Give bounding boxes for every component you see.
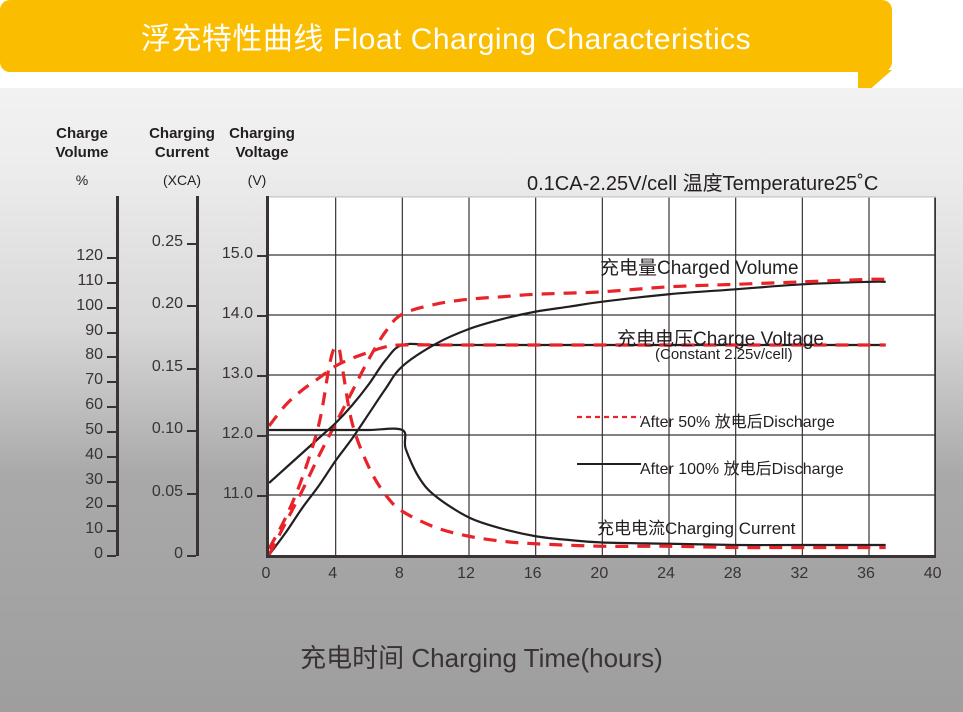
charging-voltage-tick-label: 11.0 xyxy=(195,485,253,503)
charge-volume-tick-label: 30 xyxy=(37,471,103,489)
charge-volume-tick xyxy=(107,282,116,284)
charge-volume-tick-label: 110 xyxy=(37,272,103,290)
charging-current-tick-label: 0.10 xyxy=(117,420,183,438)
axis-header-charging-voltage-line1: Charging xyxy=(216,124,308,143)
legend-label-0: After 50% 放电后Discharge xyxy=(640,408,835,432)
charge-volume-tick xyxy=(107,332,116,334)
charge-volume-tick-label: 120 xyxy=(37,247,103,265)
charge-volume-tick-label: 100 xyxy=(37,297,103,315)
x-tick-label: 8 xyxy=(379,565,419,583)
charging-voltage-tick-label: 15.0 xyxy=(195,245,253,263)
charging-voltage-tick-label: 14.0 xyxy=(195,305,253,323)
charging-current-tick-label: 0.25 xyxy=(117,233,183,251)
charge-volume-tick xyxy=(107,381,116,383)
charge-volume-tick-label: 80 xyxy=(37,346,103,364)
axis-header-charging-current-line2: Current xyxy=(136,143,228,162)
x-tick-label: 16 xyxy=(513,565,553,583)
annotation-charging-current: 充电电流Charging Current xyxy=(597,514,795,539)
axis-unit-percent: % xyxy=(56,172,108,188)
charge-volume-tick xyxy=(107,257,116,259)
charge-volume-tick xyxy=(107,356,116,358)
axis-header-charging-current: Charging Current xyxy=(136,124,228,162)
x-tick-label: 12 xyxy=(446,565,486,583)
charge-volume-tick-label: 50 xyxy=(37,421,103,439)
charge-volume-tick-label: 70 xyxy=(37,371,103,389)
charging-voltage-tick-label: 13.0 xyxy=(195,365,253,383)
charging-current-tick-label: 0.05 xyxy=(117,483,183,501)
x-tick-label: 28 xyxy=(713,565,753,583)
x-tick-label: 40 xyxy=(913,565,953,583)
charge-volume-tick xyxy=(107,307,116,309)
charging-voltage-tick-label: 12.0 xyxy=(195,425,253,443)
x-tick-label: 24 xyxy=(646,565,686,583)
header-banner: 浮充特性曲线 Float Charging Characteristics xyxy=(0,0,963,100)
charge-volume-tick xyxy=(107,406,116,408)
charge-volume-tick-label: 90 xyxy=(37,322,103,340)
charge-volume-tick-label: 10 xyxy=(37,520,103,538)
charging-current-tick xyxy=(187,555,196,557)
axis-header-charging-voltage: Charging Voltage xyxy=(216,124,308,162)
charging-voltage-tick xyxy=(257,255,266,257)
plot-area xyxy=(266,196,936,558)
axis-header-charge-volume-line1: Charge xyxy=(36,124,128,143)
x-tick-label: 32 xyxy=(779,565,819,583)
charging-current-tick-label: 0.20 xyxy=(117,295,183,313)
legend-label-1: After 100% 放电后Discharge xyxy=(640,455,844,479)
charging-voltage-tick xyxy=(257,375,266,377)
charging-voltage-tick xyxy=(257,315,266,317)
plot-svg xyxy=(269,196,936,555)
annotation-charged-volume: 充电量Charged Volume xyxy=(600,253,799,280)
condition-note: 0.1CA-2.25V/cell 温度Temperature25˚C xyxy=(527,167,878,196)
charging-voltage-tick xyxy=(257,495,266,497)
x-tick-label: 0 xyxy=(246,565,286,583)
axis-unit-xca: (XCA) xyxy=(152,172,212,188)
axis-header-charging-current-line1: Charging xyxy=(136,124,228,143)
annotation-charge-voltage-sub: (Constant 2.25v/cell) xyxy=(655,346,793,363)
charge-volume-tick xyxy=(107,481,116,483)
x-tick-label: 20 xyxy=(579,565,619,583)
charge-volume-tick xyxy=(107,530,116,532)
charge-volume-tick xyxy=(107,555,116,557)
charge-volume-tick xyxy=(107,431,116,433)
axis-header-charging-voltage-line2: Voltage xyxy=(216,143,308,162)
charging-voltage-tick xyxy=(257,435,266,437)
x-tick-label: 36 xyxy=(846,565,886,583)
charge-volume-tick-label: 40 xyxy=(37,446,103,464)
axis-unit-volt: (V) xyxy=(232,172,282,188)
x-tick-label: 4 xyxy=(313,565,353,583)
charge-volume-tick xyxy=(107,505,116,507)
charge-volume-tick-label: 60 xyxy=(37,396,103,414)
charge-volume-tick-label: 20 xyxy=(37,495,103,513)
chart-caption: 充电时间 Charging Time(hours) xyxy=(0,638,963,675)
axis-header-charge-volume: Charge Volume xyxy=(36,124,128,162)
charging-current-tick-label: 0 xyxy=(117,545,183,563)
charging-current-tick-label: 0.15 xyxy=(117,358,183,376)
page-title: 浮充特性曲线 Float Charging Characteristics xyxy=(0,0,892,72)
charge-volume-tick-label: 0 xyxy=(37,545,103,563)
axis-header-charge-volume-line2: Volume xyxy=(36,143,128,162)
charge-volume-tick xyxy=(107,456,116,458)
